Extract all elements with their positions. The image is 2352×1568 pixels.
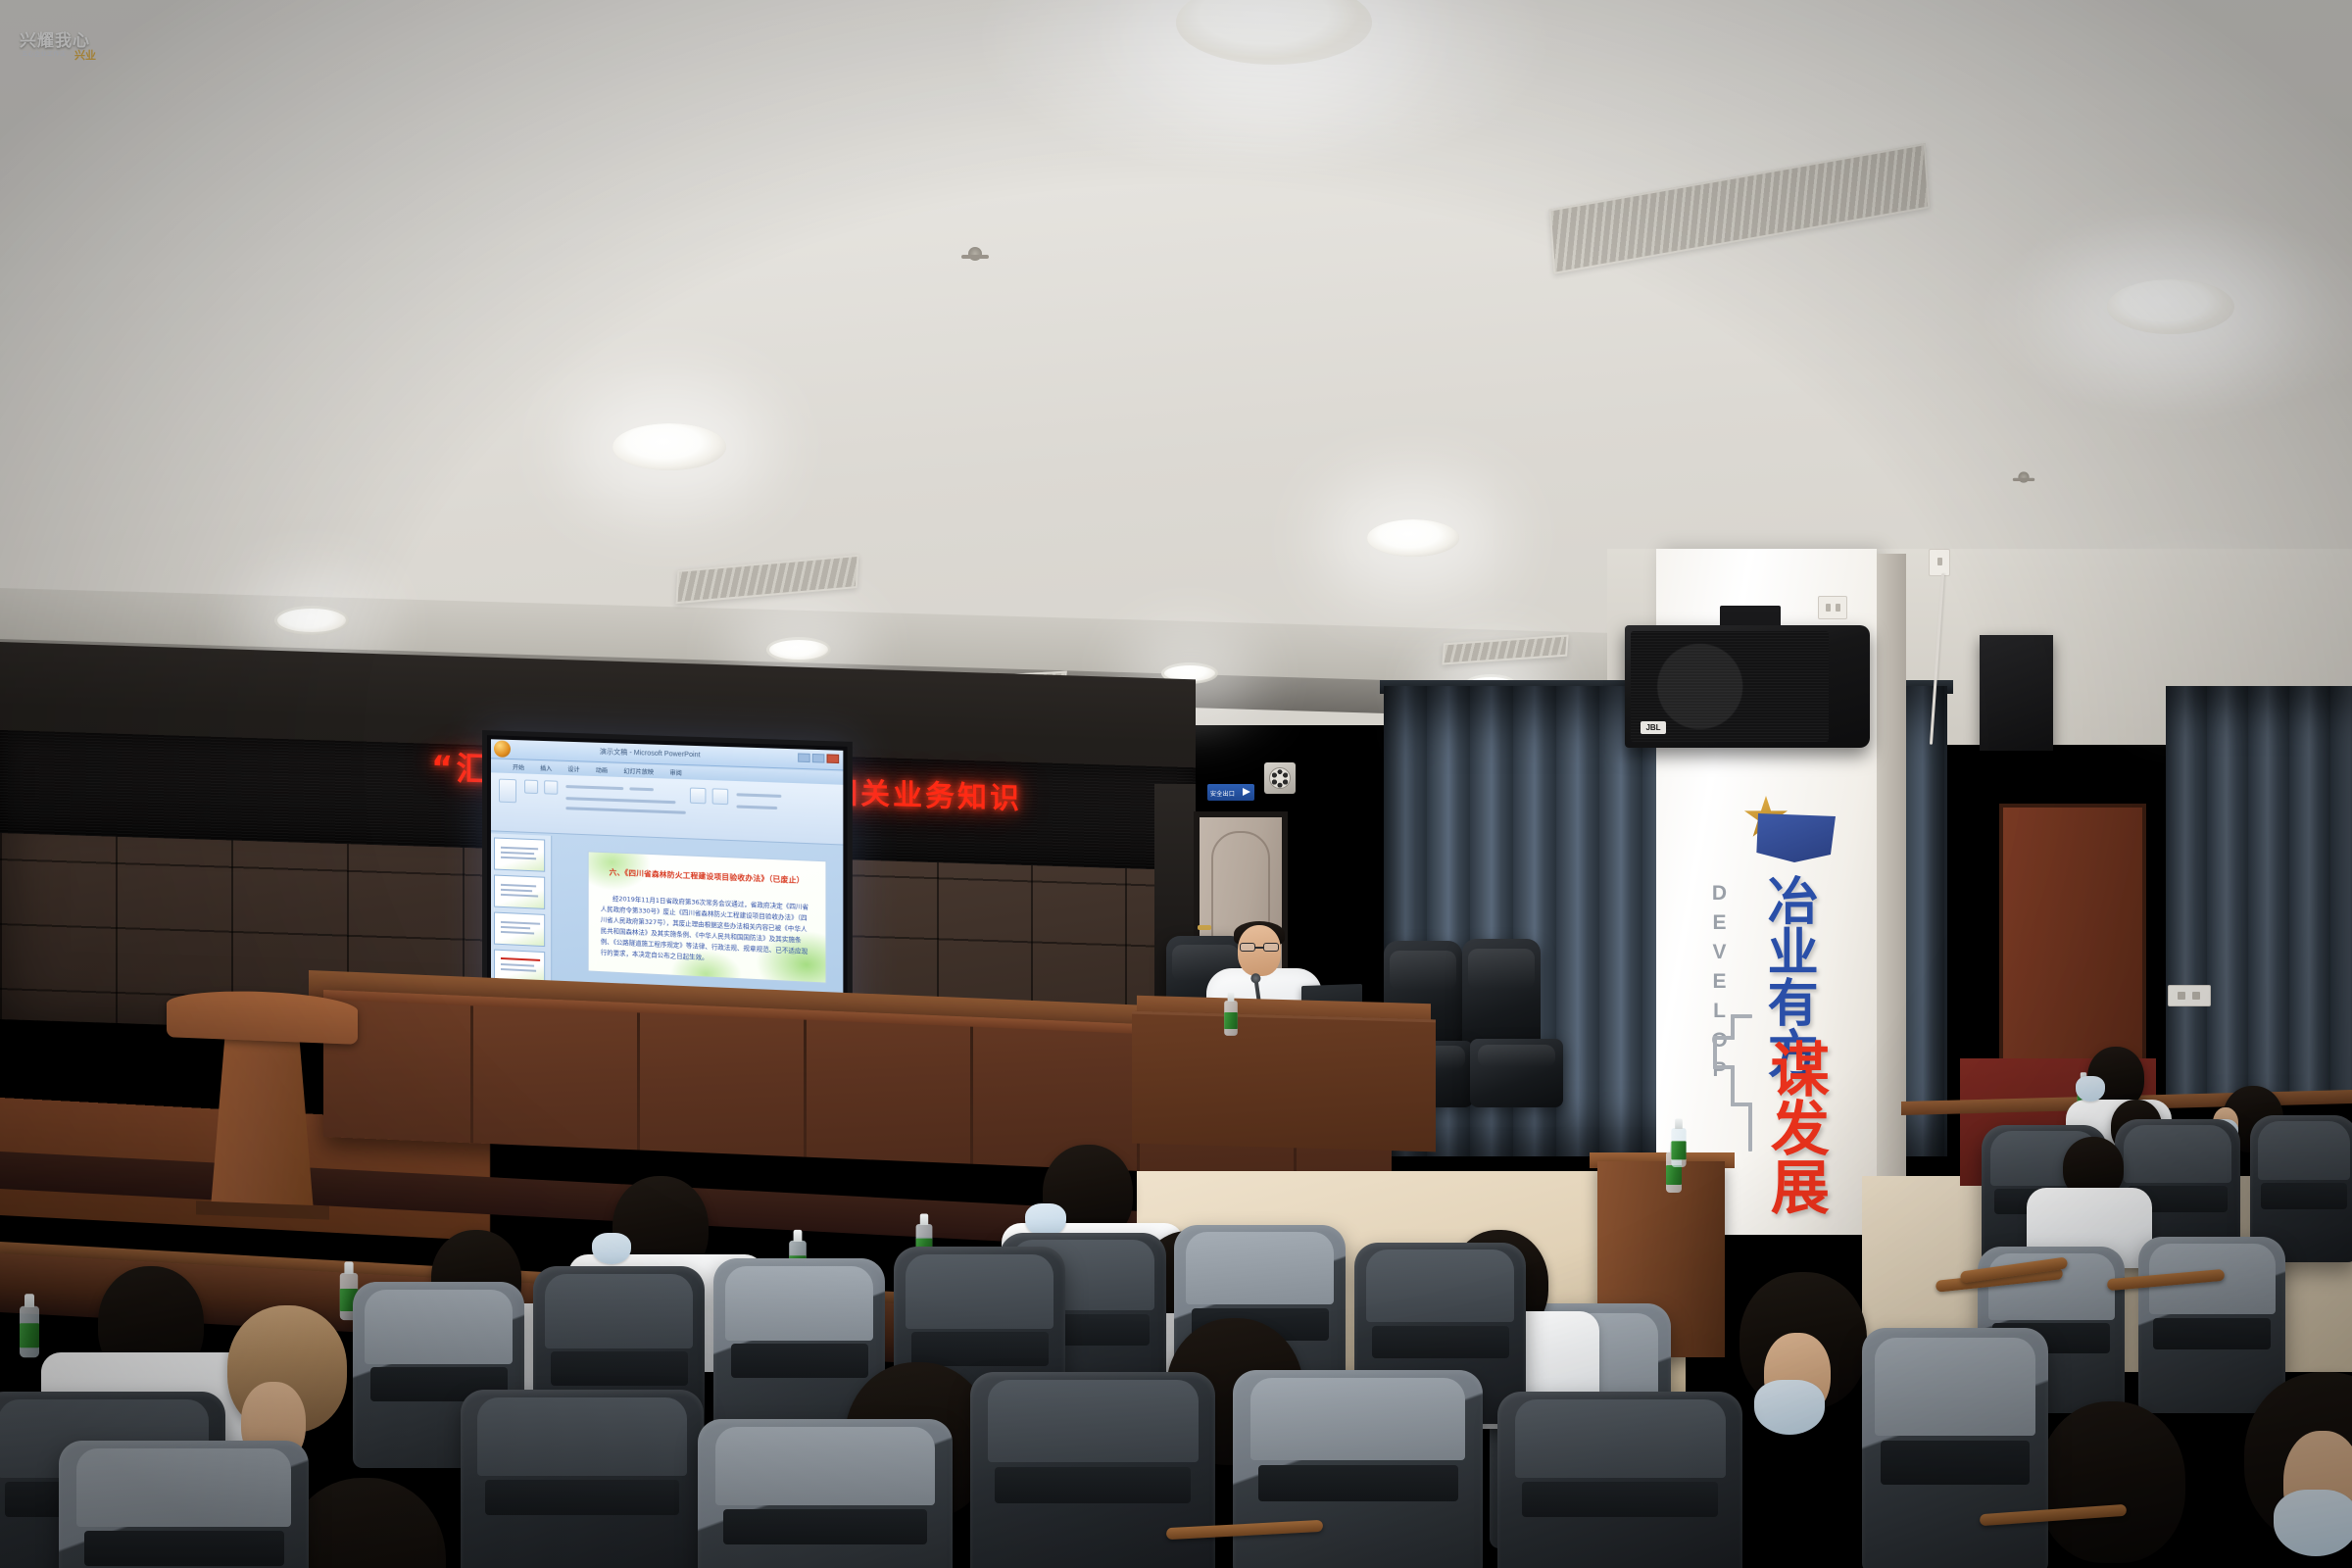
head-table	[1132, 1011, 1436, 1152]
ribbon-tab-4[interactable]: 幻灯片放映	[623, 766, 654, 776]
water-bottle-presenter	[1224, 1001, 1238, 1036]
exit-sign-label: 安全出口	[1210, 789, 1235, 798]
wall-switch-plate[interactable]	[1929, 549, 1950, 576]
slide-thumbnail-1[interactable]	[494, 837, 545, 871]
editing-group-2[interactable]	[737, 806, 778, 810]
audience-head-rf3	[2038, 1401, 2185, 1563]
font-style-row[interactable]	[565, 797, 675, 804]
wall-clock-icon	[1264, 762, 1296, 794]
logo-shield-shape	[1753, 813, 1836, 862]
seat-front-2[interactable]	[59, 1441, 309, 1568]
secondary-speaker	[1980, 635, 2053, 751]
seat-right-front-1[interactable]	[1862, 1328, 2048, 1568]
exec-chair-seat-2	[1470, 1039, 1563, 1107]
ribbon-tab-5[interactable]: 审阅	[669, 767, 681, 777]
downlight-ceiling-4	[1367, 519, 1459, 557]
face-mask-r1	[2076, 1076, 2105, 1102]
slide-thumbnail-3[interactable]	[494, 912, 545, 948]
stage-curtain-right	[2166, 686, 2352, 1098]
downlight-soffit-2	[766, 637, 831, 662]
logo-sub-text: 五心企业工作法	[22, 49, 76, 58]
slogan-line-red: 谋发展	[1764, 1039, 1825, 1215]
slide-thumbnail-pane[interactable]	[491, 833, 552, 987]
podium-top	[167, 988, 358, 1044]
active-slide: 六、《四川省森林防火工程建设项目验收办法》（已废止） 经2019年11月1日省政…	[588, 851, 827, 983]
layout-icon[interactable]	[544, 780, 558, 795]
face-mask-m1	[1025, 1203, 1066, 1237]
seat-front-4[interactable]	[698, 1419, 953, 1568]
downlight-ceiling-2	[2107, 279, 2234, 334]
sprinkler-icon-1	[968, 247, 982, 261]
office-orb-icon[interactable]	[494, 740, 511, 758]
arrange-icon[interactable]	[712, 788, 729, 805]
face-mask-rf1	[1754, 1380, 1825, 1435]
conference-hall-photo: “汇 相关业务知识 演示文稿 - Microsoft PowerPoint 开始…	[0, 0, 2352, 1568]
face-mask-rf2	[2274, 1490, 2352, 1556]
exit-sign: 安全出口	[1207, 784, 1254, 801]
logo-accent-text: 兴业	[74, 47, 96, 63]
seat-front-6[interactable]	[1233, 1370, 1483, 1568]
ppt-ribbon	[491, 772, 843, 845]
editing-group[interactable]	[737, 793, 782, 798]
downlight-soffit-1	[274, 606, 349, 635]
glasses-icon	[1239, 943, 1280, 952]
slide-thumbnail-2[interactable]	[494, 875, 545, 909]
pillar-right-face	[1877, 554, 1906, 1230]
led-banner-right-text: 相关业务知识	[828, 779, 1022, 814]
company-logo	[1739, 796, 1837, 866]
face-mask-m3	[592, 1233, 631, 1264]
ribbon-tab-2[interactable]: 设计	[567, 764, 579, 773]
paragraph-row[interactable]	[565, 807, 685, 814]
ribbon-tab-3[interactable]: 动画	[596, 765, 608, 775]
ribbon-tab-0[interactable]: 开始	[513, 762, 524, 771]
ribbon-tab-1[interactable]: 插入	[540, 763, 552, 772]
slide-body-text: 经2019年11月1日省政府第36次常务会议通过，省政府决定《四川省人民政府令第…	[601, 893, 813, 968]
ppt-window-title: 演示文稿 - Microsoft PowerPoint	[600, 747, 701, 760]
new-slide-icon[interactable]	[524, 780, 538, 795]
font-name-field[interactable]	[565, 785, 623, 790]
paste-icon[interactable]	[499, 779, 516, 804]
sprinkler-icon-2	[2018, 471, 2029, 482]
water-bottle-1	[20, 1306, 39, 1358]
downlight-ceiling-3	[612, 423, 726, 470]
font-size-field[interactable]	[629, 787, 654, 791]
seat-front-7[interactable]	[1497, 1392, 1742, 1568]
seat-right-mid-2[interactable]	[2138, 1237, 2285, 1413]
slide-title: 六、《四川省森林防火工程建设项目验收办法》（已废止）	[601, 866, 813, 886]
shapes-icon[interactable]	[690, 787, 707, 804]
jbl-logo: JBL	[1641, 721, 1666, 734]
water-bottle-5	[1671, 1128, 1686, 1167]
exit-arrow-icon	[1243, 788, 1250, 796]
podium-body	[211, 1033, 314, 1211]
wall-data-plate[interactable]	[2168, 985, 2211, 1006]
lectern-podium	[167, 988, 358, 1220]
power-outlet-plate[interactable]	[1818, 596, 1847, 619]
seat-front-3[interactable]	[461, 1390, 704, 1568]
jbl-speaker: JBL	[1625, 625, 1870, 748]
window-controls[interactable]	[798, 753, 839, 763]
